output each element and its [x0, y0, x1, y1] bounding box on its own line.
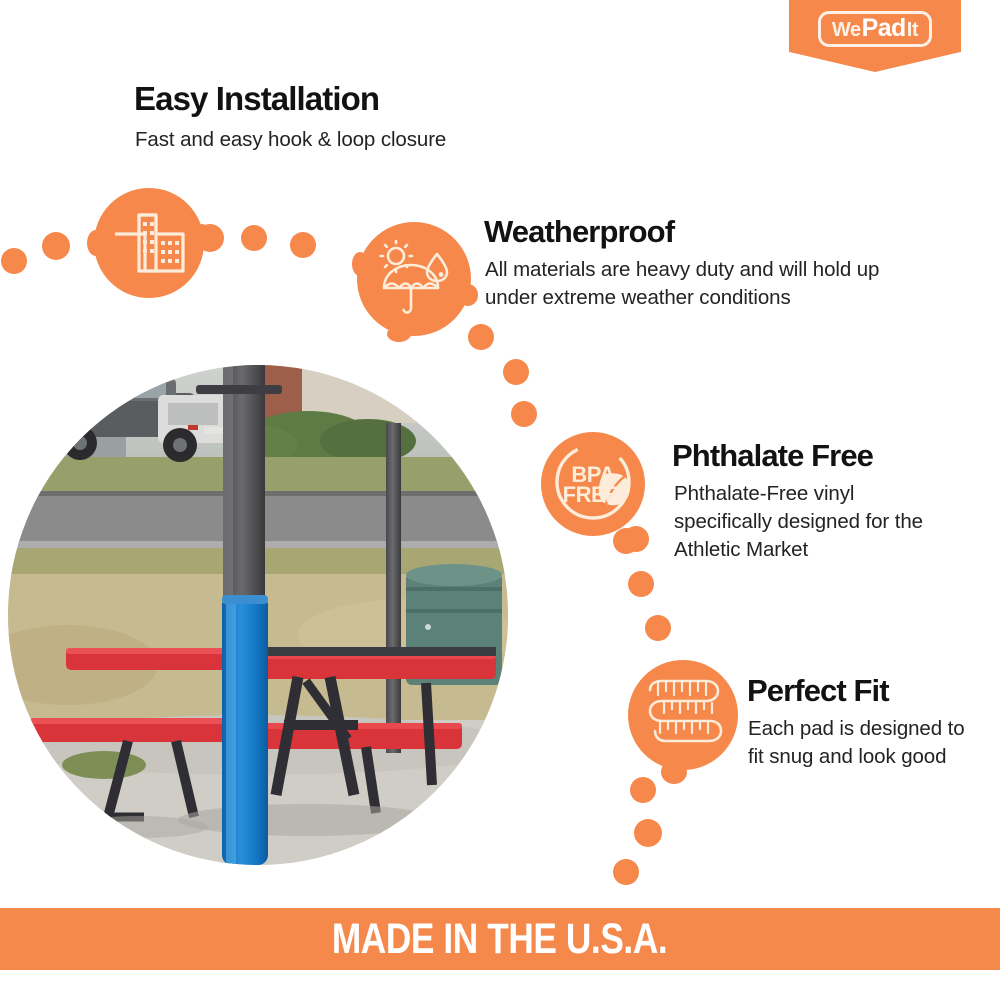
- made-in-usa-text: MADE IN THE U.S.A.: [332, 915, 667, 964]
- path-dot: [196, 224, 224, 252]
- product-photo: [8, 365, 508, 865]
- path-dot: [290, 232, 316, 258]
- bpa-free-leaf-icon: BPA FREE: [541, 432, 645, 536]
- path-dot: [511, 401, 537, 427]
- feature-title-phthalate-free: Phthalate Free: [672, 438, 873, 474]
- feature-description-easy-installation: Fast and easy hook & loop closure: [135, 126, 565, 154]
- path-dot: [42, 232, 70, 260]
- feature-title-easy-installation: Easy Installation: [134, 80, 379, 118]
- circle-nub: [458, 284, 478, 306]
- logo-text-pad: Pad: [861, 16, 907, 41]
- feature-description-weatherproof: All materials are heavy duty and will ho…: [485, 256, 915, 312]
- path-dot: [1, 248, 27, 274]
- circle-nub: [387, 326, 411, 342]
- measuring-tape-icon: [628, 660, 738, 770]
- bpa-icon-line2: FREE: [563, 482, 620, 507]
- path-dot: [613, 528, 639, 554]
- path-dot: [503, 359, 529, 385]
- logo-outline-box: We Pad It: [818, 11, 932, 47]
- feature-title-weatherproof: Weatherproof: [484, 214, 674, 250]
- bpa-free-glyph: BPA FREE: [541, 432, 645, 536]
- path-dot: [241, 225, 267, 251]
- circle-nub: [352, 252, 368, 276]
- path-dot: [628, 571, 654, 597]
- made-in-usa-banner: MADE IN THE U.S.A.: [0, 908, 1000, 970]
- circle-nub: [87, 230, 105, 256]
- logo-text-it: It: [907, 20, 918, 40]
- path-dot: [645, 615, 671, 641]
- logo-text-we: We: [832, 20, 861, 40]
- product-photo-illustration: [8, 365, 508, 865]
- brand-logo: We Pad It: [789, 0, 961, 72]
- building-icon: [94, 188, 204, 298]
- path-dot: [630, 777, 656, 803]
- path-dot: [613, 859, 639, 885]
- infographic-canvas: We Pad It Easy Installation Fast and eas…: [0, 0, 1000, 987]
- path-dot: [468, 324, 494, 350]
- feature-description-phthalate-free: Phthalate-Free vinyl specifically design…: [674, 480, 944, 564]
- circle-nub: [661, 760, 687, 784]
- feature-title-perfect-fit: Perfect Fit: [747, 673, 889, 709]
- building-glyph: [112, 212, 186, 274]
- path-dot: [634, 819, 662, 847]
- weather-glyph: [374, 240, 454, 318]
- feature-description-perfect-fit: Each pad is designed to fit snug and loo…: [748, 715, 978, 771]
- sun-umbrella-rain-icon: [357, 222, 471, 336]
- tape-glyph: [640, 675, 726, 755]
